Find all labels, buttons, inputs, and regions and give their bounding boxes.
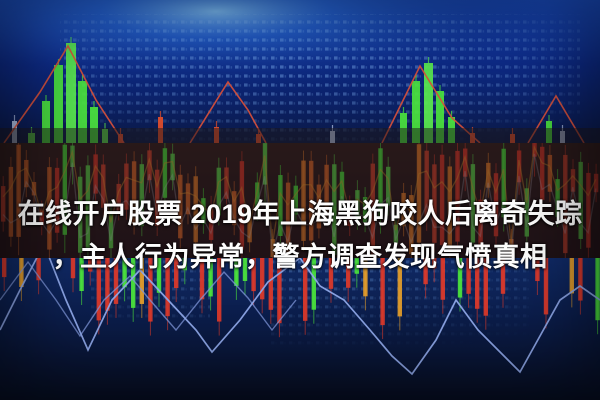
headline-line-2: ，主人行为异常，警方调查发现气愤真相 <box>0 236 600 279</box>
top-zone-graphics <box>0 0 600 143</box>
top-blue-background <box>0 0 600 143</box>
banner-image: 在线开户股票 2019年上海黑狗咬人后离奇失踪 ，主人行为异常，警方调查发现气愤… <box>0 0 600 400</box>
headline-line-1: 在线开户股票 2019年上海黑狗咬人后离奇失踪 <box>17 199 582 229</box>
headline-text: 在线开户股票 2019年上海黑狗咬人后离奇失踪 ，主人行为异常，警方调查发现气愤… <box>0 150 600 322</box>
digit-grid-texture <box>60 14 580 143</box>
